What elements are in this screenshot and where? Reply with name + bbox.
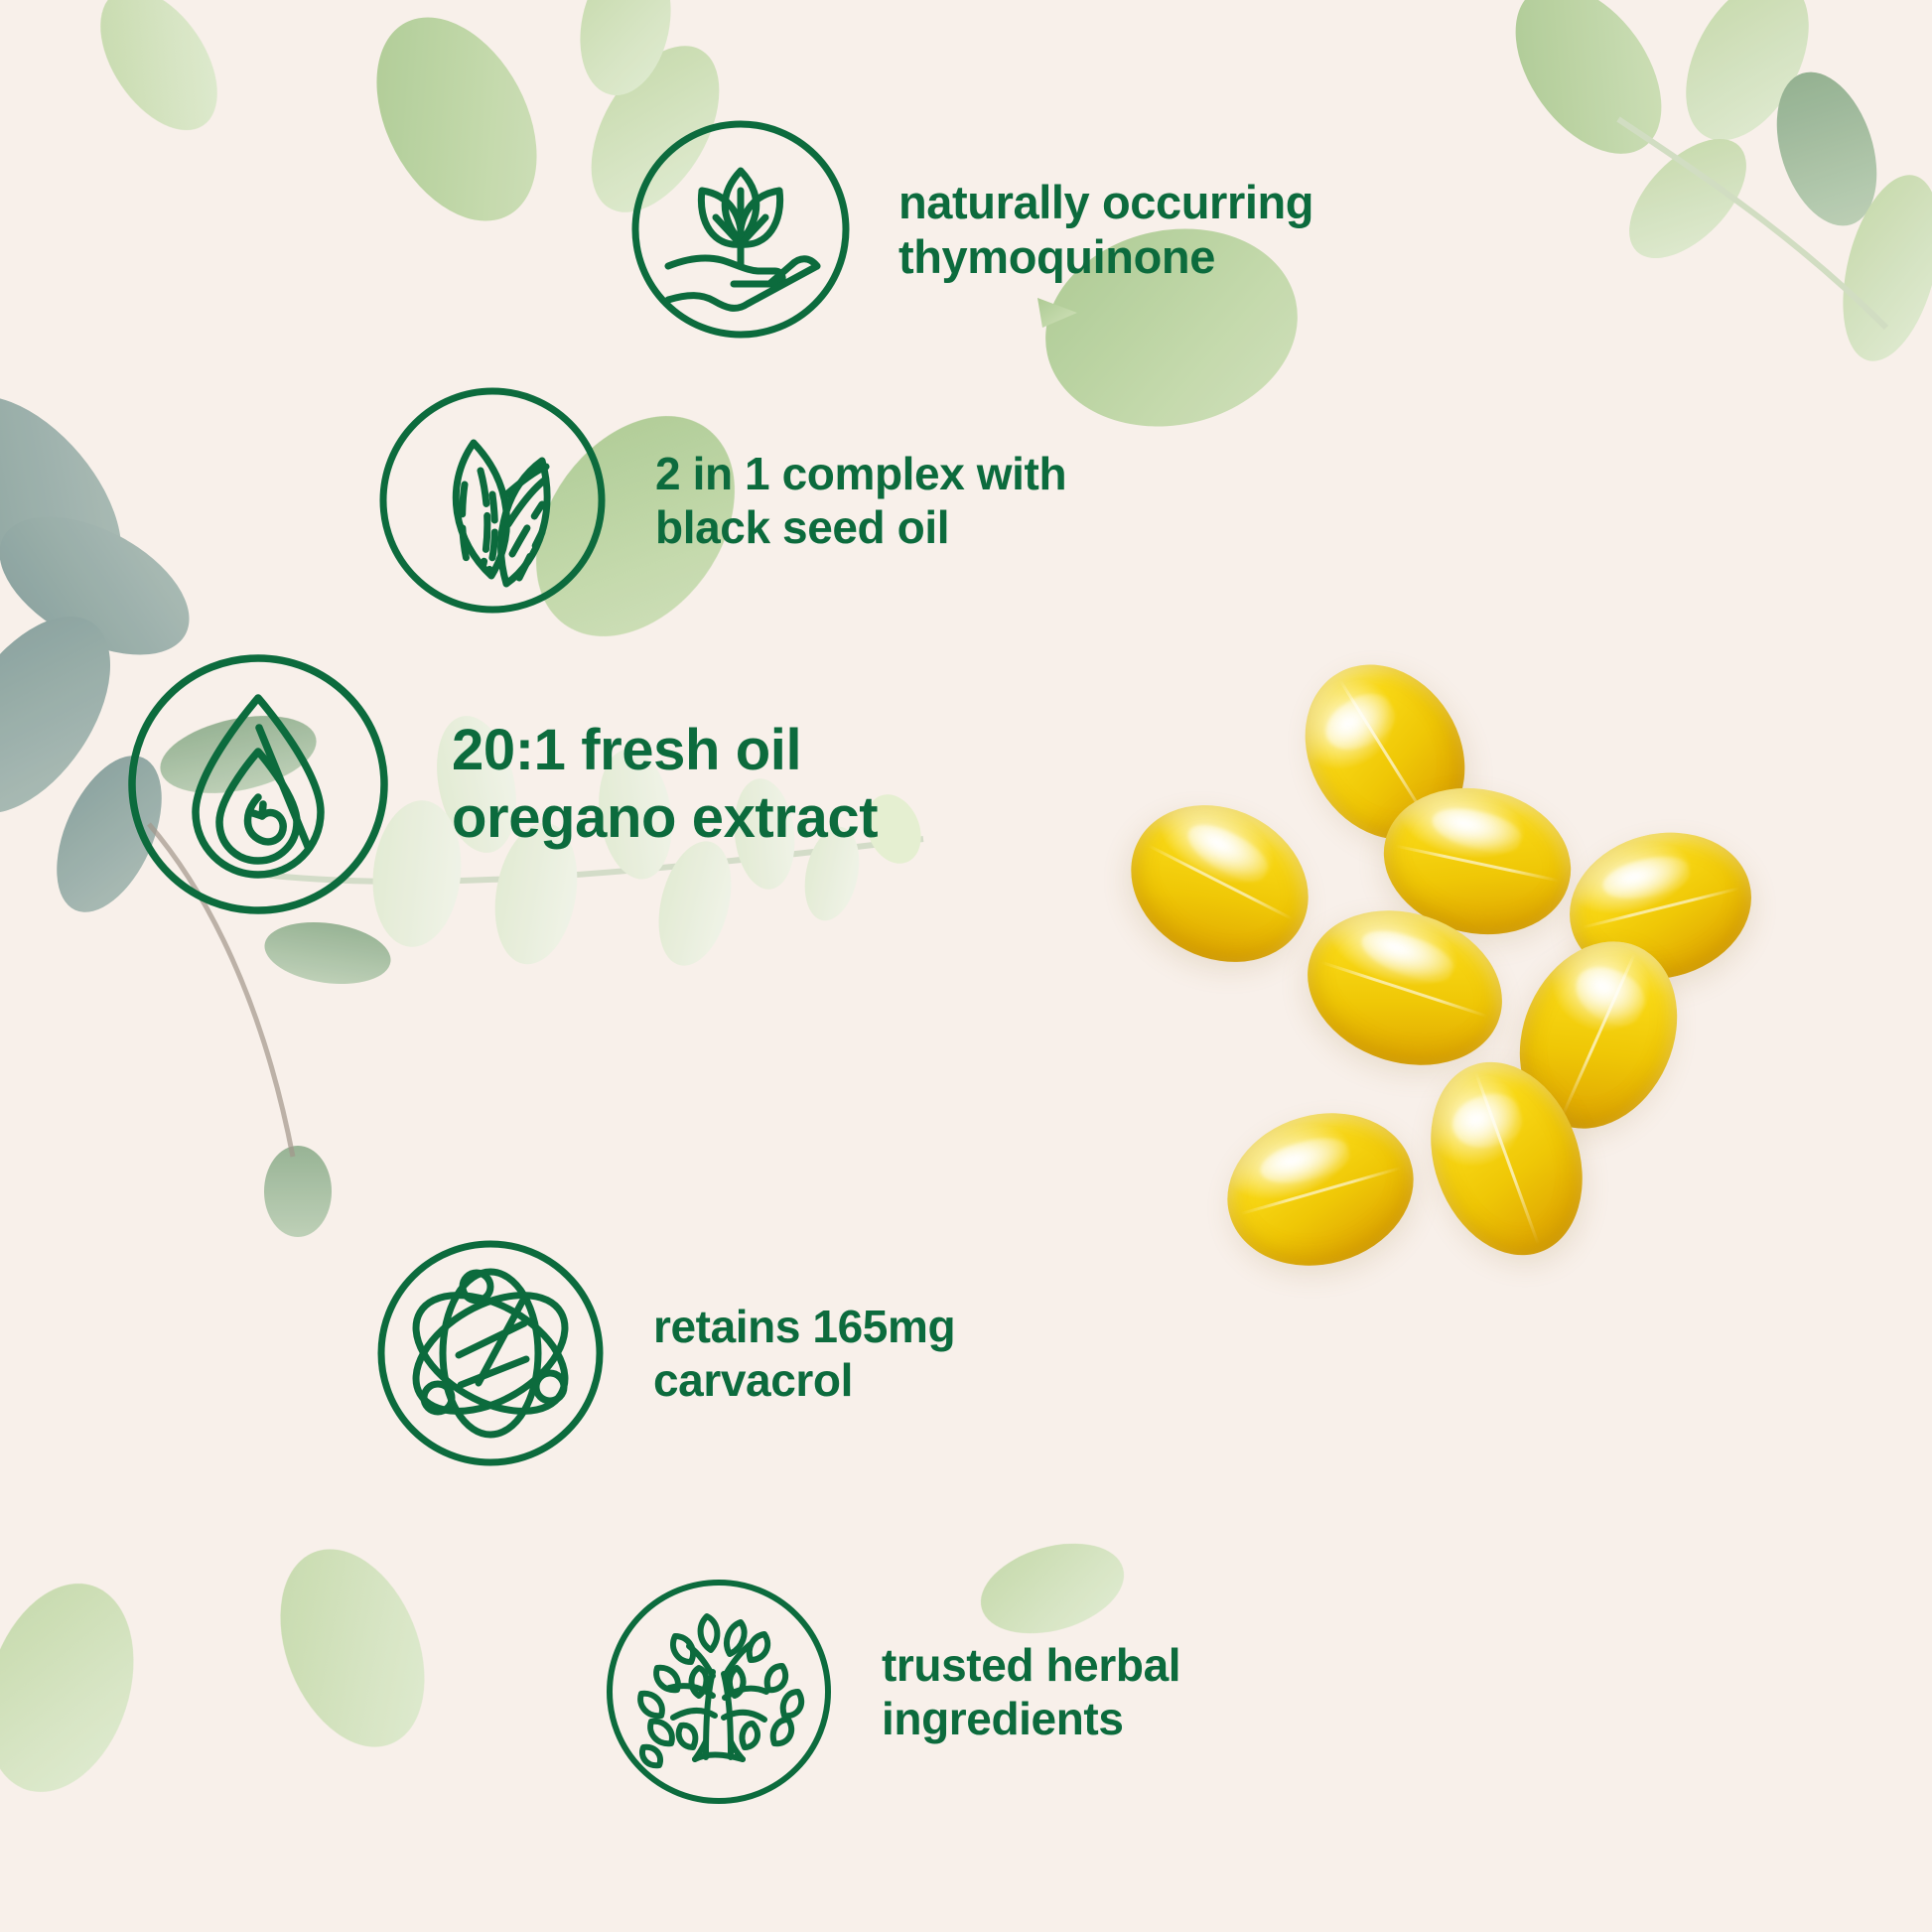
oil-droplet-spiral-icon — [124, 650, 392, 918]
tree-icon — [604, 1577, 834, 1807]
feature-label: naturally occurring thymoquinone — [898, 175, 1313, 285]
atom-molecule-icon — [375, 1238, 606, 1468]
feature-row-carvacrol: retains 165mg carvacrol — [375, 1238, 955, 1468]
plant-in-hand-icon — [630, 119, 851, 340]
feature-label: 20:1 fresh oil oregano extract — [452, 717, 878, 853]
product-benefits-infographic: naturally occurring thymoquinone 2 in 1 … — [0, 0, 1932, 1932]
capsule — [1209, 1092, 1432, 1288]
feature-label: trusted herbal ingredients — [882, 1638, 1180, 1746]
golden-softgel-capsules — [1122, 650, 1777, 1306]
feature-row-black-seed: 2 in 1 complex with black seed oil — [377, 385, 1066, 616]
black-seeds-icon — [377, 385, 608, 616]
feature-row-thymoquinone: naturally occurring thymoquinone — [630, 119, 1313, 340]
feature-label: 2 in 1 complex with black seed oil — [655, 447, 1066, 555]
capsule — [1104, 775, 1335, 992]
feature-row-oregano-extract: 20:1 fresh oil oregano extract — [124, 650, 878, 918]
feature-row-herbal-ingredients: trusted herbal ingredients — [604, 1577, 1180, 1807]
feature-label: retains 165mg carvacrol — [653, 1300, 955, 1408]
